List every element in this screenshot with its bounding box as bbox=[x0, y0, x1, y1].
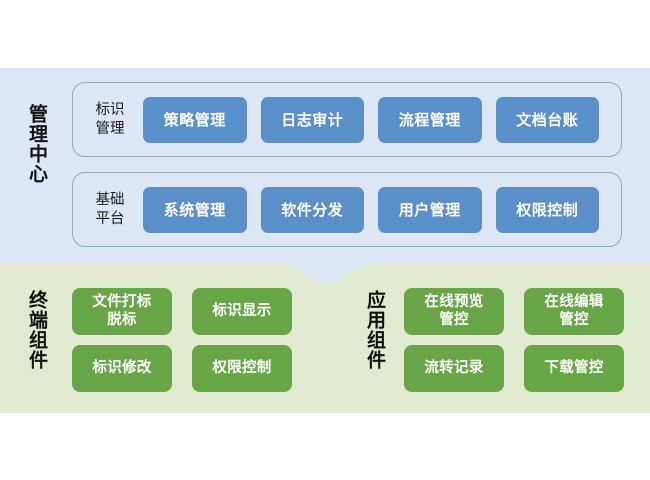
chip-policy-management[interactable]: 策略管理 bbox=[143, 97, 247, 143]
row-title-identity-management: 标识 管理 bbox=[77, 101, 143, 138]
chip-user-management[interactable]: 用户管理 bbox=[378, 187, 482, 233]
chip-online-edit-control[interactable]: 在线编辑 管控 bbox=[524, 288, 624, 335]
chip-identity-display[interactable]: 标识显示 bbox=[192, 288, 292, 335]
row-base-platform: 基础 平台 系统管理 软件分发 用户管理 权限控制 bbox=[72, 172, 622, 247]
chip-transfer-record[interactable]: 流转记录 bbox=[404, 345, 504, 392]
chip-file-tag-untag[interactable]: 文件打标 脱标 bbox=[72, 288, 172, 335]
chip-online-preview-control[interactable]: 在线预览 管控 bbox=[404, 288, 504, 335]
terminal-components-label: 终端组件 bbox=[22, 290, 46, 370]
chip-log-audit[interactable]: 日志审计 bbox=[261, 97, 365, 143]
chip-process-management[interactable]: 流程管理 bbox=[378, 97, 482, 143]
row-identity-management: 标识 管理 策略管理 日志审计 流程管理 文档台账 bbox=[72, 82, 622, 157]
chip-software-distribution[interactable]: 软件分发 bbox=[261, 187, 365, 233]
chip-document-ledger[interactable]: 文档台账 bbox=[496, 97, 600, 143]
chip-strip-base-platform: 系统管理 软件分发 用户管理 权限控制 bbox=[143, 187, 621, 233]
management-center-label: 管理中心 bbox=[22, 104, 46, 184]
chip-identity-modify[interactable]: 标识修改 bbox=[72, 345, 172, 392]
chip-permission-control-base[interactable]: 权限控制 bbox=[496, 187, 600, 233]
row-title-base-platform: 基础 平台 bbox=[77, 191, 143, 228]
band-connector-notch bbox=[278, 264, 374, 288]
chip-strip-identity-management: 策略管理 日志审计 流程管理 文档台账 bbox=[143, 97, 621, 143]
chip-download-control[interactable]: 下载管控 bbox=[524, 345, 624, 392]
chip-system-management[interactable]: 系统管理 bbox=[143, 187, 247, 233]
terminal-components-grid: 文件打标 脱标 标识显示 标识修改 权限控制 bbox=[72, 288, 292, 392]
application-components-grid: 在线预览 管控 在线编辑 管控 流转记录 下载管控 bbox=[404, 288, 624, 392]
application-components-label: 应用组件 bbox=[360, 290, 384, 370]
architecture-diagram: 管理中心 标识 管理 策略管理 日志审计 流程管理 文档台账 基础 平台 系统管… bbox=[0, 0, 650, 480]
chip-permission-control-terminal[interactable]: 权限控制 bbox=[192, 345, 292, 392]
